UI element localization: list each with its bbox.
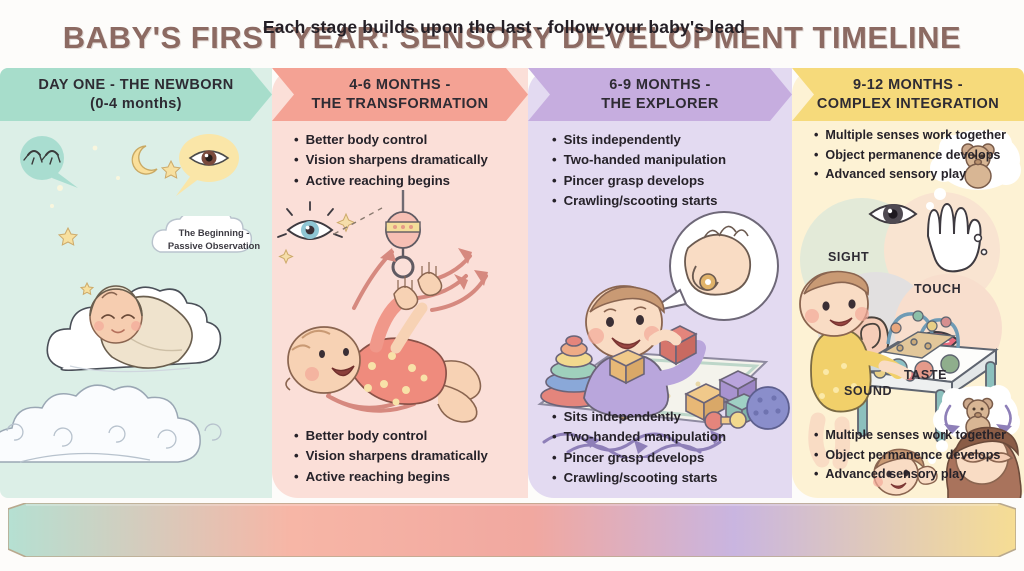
stage-column-integration[interactable]: 9-12 MONTHS - COMPLEX INTEGRATION Multip… <box>792 68 1024 498</box>
stage3-bullets-bottom: Sits independently Two-handed manipulati… <box>552 407 726 489</box>
stage4-header-line1: 9-12 MONTHS - <box>817 76 999 94</box>
infographic-poster: BABY'S FIRST YEAR: SENSORY DEVELOPMENT T… <box>0 0 1024 571</box>
sleepy-eyes-bubble <box>20 136 78 188</box>
stage3-header: 6-9 MONTHS - THE EXPLORER <box>528 68 792 121</box>
sense-label-sight: SIGHT <box>828 250 869 264</box>
stage2-header-line2: THE TRANSFORMATION <box>312 95 489 113</box>
stage4-header: 9-12 MONTHS - COMPLEX INTEGRATION <box>792 68 1024 121</box>
stage2-header-line1: 4-6 MONTHS - <box>312 76 489 94</box>
stage2-bullets-top: Better body control Vision sharpens dram… <box>294 130 488 191</box>
list-item: Active reaching begins <box>294 171 488 191</box>
list-item: Sits independently <box>552 407 726 427</box>
open-eye-bubble <box>176 134 239 196</box>
baby-on-cloud <box>47 286 220 372</box>
newborn-illustration <box>0 108 272 498</box>
bottom-cloud <box>0 385 221 462</box>
list-item: Advanced sensory play <box>814 165 1006 185</box>
stage-column-explorer[interactable]: 6-9 MONTHS - THE EXPLORER Sits independe… <box>528 68 792 498</box>
sense-label-taste: TASTE <box>904 368 947 382</box>
stage-column-newborn[interactable]: DAY ONE - THE NEWBORN (0-4 months) The B… <box>0 68 272 498</box>
list-item: Vision sharpens dramatically <box>294 150 488 170</box>
list-item: Crawling/scooting starts <box>552 191 726 211</box>
footer-ribbon <box>8 503 1016 557</box>
list-item: Pincer grasp develops <box>552 448 726 468</box>
list-item: Better body control <box>294 426 488 446</box>
stage3-header-line2: THE EXPLORER <box>601 95 719 113</box>
list-item: Crawling/scooting starts <box>552 468 726 488</box>
list-item: Object permanence develops <box>814 146 1006 166</box>
stage4-bullets-top: Multiple senses work together Object per… <box>814 126 1006 185</box>
stage2-header: 4-6 MONTHS - THE TRANSFORMATION <box>272 68 528 121</box>
stage3-header-line1: 6-9 MONTHS - <box>601 76 719 94</box>
stage4-header-line2: COMPLEX INTEGRATION <box>817 95 999 113</box>
list-item: Better body control <box>294 130 488 150</box>
beginning-badge-line2: Passive Observation <box>168 240 260 253</box>
reaching-baby-illustration <box>272 188 528 433</box>
list-item: Active reaching begins <box>294 467 488 487</box>
moon-icon <box>132 146 157 174</box>
stage2-bullets-bottom: Better body control Vision sharpens dram… <box>294 426 488 487</box>
sense-label-touch: TOUCH <box>914 282 961 296</box>
stage-column-transformation[interactable]: 4-6 MONTHS - THE TRANSFORMATION Better b… <box>272 68 528 498</box>
list-item: Multiple senses work together <box>814 126 1006 146</box>
spiky-ball <box>747 387 789 429</box>
timeline-columns: DAY ONE - THE NEWBORN (0-4 months) The B… <box>0 68 1024 498</box>
rattle-toy <box>386 190 420 277</box>
list-item: Two-handed manipulation <box>552 150 726 170</box>
beginning-badge: The Beginning - Passive Observation <box>150 216 272 264</box>
list-item: Sits independently <box>552 130 726 150</box>
list-item: Advanced sensory play <box>814 465 1006 485</box>
pincer-grasp-bubble <box>648 212 778 320</box>
beginning-badge-line1: The Beginning - <box>168 227 260 240</box>
footer-ribbon-text: Each stage builds upon the last - follow… <box>0 0 1008 54</box>
stage4-bullets-bottom: Multiple senses work together Object per… <box>814 426 1006 485</box>
stage1-header-line2: (0-4 months) <box>38 95 233 113</box>
list-item: Two-handed manipulation <box>552 427 726 447</box>
list-item: Pincer grasp develops <box>552 171 726 191</box>
stage3-bullets-top: Sits independently Two-handed manipulati… <box>552 130 726 212</box>
stage1-header: DAY ONE - THE NEWBORN (0-4 months) <box>0 68 272 121</box>
list-item: Object permanence develops <box>814 446 1006 466</box>
list-item: Vision sharpens dramatically <box>294 446 488 466</box>
list-item: Multiple senses work together <box>814 426 1006 446</box>
sharp-vision-eye-icon <box>278 202 382 263</box>
stage1-header-line1: DAY ONE - THE NEWBORN <box>38 76 233 94</box>
sense-label-sound: SOUND <box>844 384 892 398</box>
